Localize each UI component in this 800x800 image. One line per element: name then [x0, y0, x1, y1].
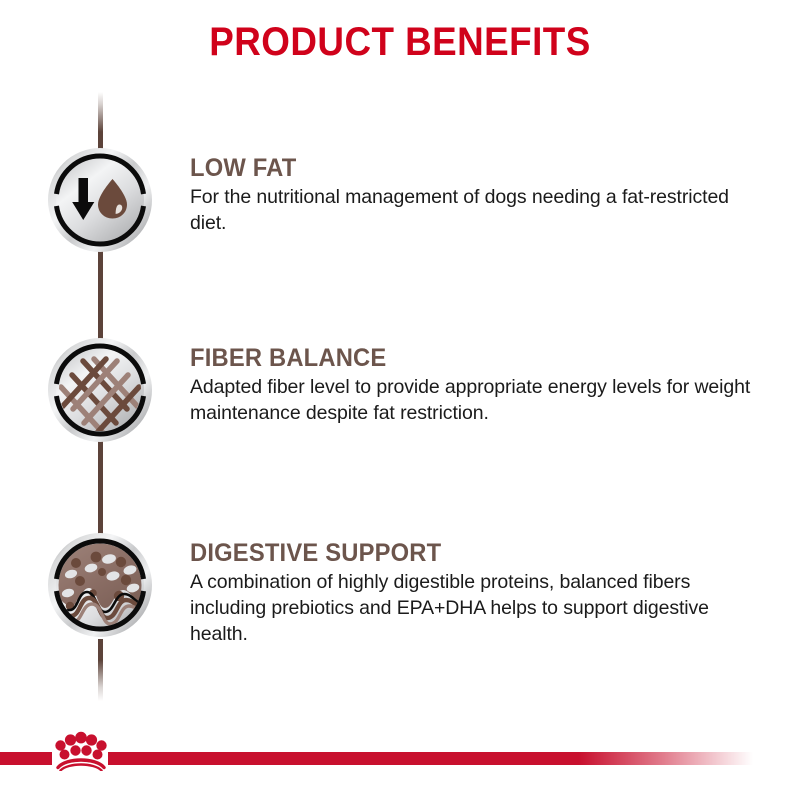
benefit-text-digestive-support: DIGESTIVE SUPPORT A combination of highl… — [190, 540, 765, 648]
benefit-text-fiber-balance: FIBER BALANCE Adapted fiber level to pro… — [190, 345, 765, 427]
digestive-tract-icon — [47, 532, 153, 638]
benefit-description: Adapted fiber level to provide appropria… — [190, 375, 765, 427]
benefit-heading: FIBER BALANCE — [190, 345, 736, 371]
benefit-description: A combination of highly digestible prote… — [190, 570, 765, 648]
connector-line-bottom — [98, 639, 103, 701]
connector-line-between-1-2 — [98, 251, 103, 339]
royal-canin-crown-logo — [52, 727, 110, 771]
fiber-crosshatch-mesh-icon — [47, 337, 153, 443]
footer-rule-left — [0, 752, 52, 765]
low-fat-arrow-droplet-icon — [47, 147, 153, 253]
connector-line-top — [98, 92, 103, 149]
benefit-heading: LOW FAT — [190, 155, 736, 181]
benefit-text-low-fat: LOW FAT For the nutritional management o… — [190, 155, 765, 237]
page-title: PRODUCT BENEFITS — [32, 20, 768, 65]
benefit-description: For the nutritional management of dogs n… — [190, 185, 765, 237]
connector-line-between-2-3 — [98, 441, 103, 534]
benefit-heading: DIGESTIVE SUPPORT — [190, 540, 736, 566]
footer-rule-right — [108, 752, 753, 765]
product-benefits-panel: PRODUCT BENEFITS — [0, 0, 800, 800]
